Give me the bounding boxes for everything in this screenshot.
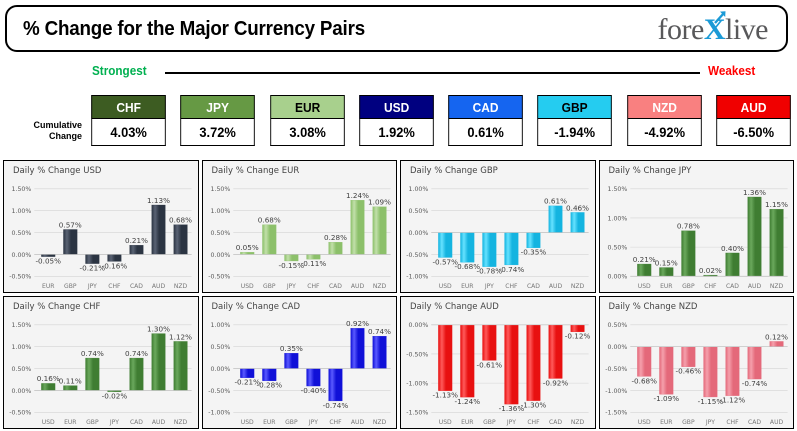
bar bbox=[527, 325, 541, 401]
bar-value-label: 0.92% bbox=[346, 319, 369, 328]
x-axis-tick-label: GBP bbox=[285, 419, 298, 426]
bar bbox=[725, 347, 739, 396]
chart-panel-aud: Daily % Change AUD-1.50%-1.00%-0.50%0.00… bbox=[400, 296, 596, 429]
bar-value-label: -0.02% bbox=[102, 392, 128, 401]
bar bbox=[438, 325, 452, 391]
currency-rank-nzd: NZD-4.92% bbox=[624, 95, 705, 149]
currency-rank-gbp: GBP-1.94% bbox=[534, 95, 615, 149]
bar bbox=[306, 369, 320, 386]
bar bbox=[130, 245, 144, 254]
bar bbox=[174, 225, 188, 255]
currency-cumulative-value: 3.72% bbox=[181, 119, 256, 146]
bar-value-label: 0.68% bbox=[257, 215, 280, 224]
x-axis-tick-label: JPY bbox=[307, 419, 317, 426]
y-axis-tick-label: 0.50% bbox=[210, 230, 230, 237]
bar bbox=[86, 254, 100, 263]
logo-text-left: fore bbox=[658, 13, 704, 46]
x-axis-tick-label: CAD bbox=[725, 283, 738, 290]
header-bar: % Change for the Major Currency Pairs fo… bbox=[5, 5, 788, 52]
x-axis-tick-label: EUR bbox=[42, 283, 55, 290]
chart-title: Daily % Change EUR bbox=[212, 166, 300, 176]
chart-plot-area: -1.50%-1.00%-0.50%0.00%-1.13%USD-1.24%EU… bbox=[401, 315, 593, 428]
y-axis-tick-label: 0.00% bbox=[210, 366, 230, 373]
bar bbox=[659, 347, 673, 395]
x-axis-tick-label: CHF bbox=[527, 419, 540, 426]
bar-value-label: -0.05% bbox=[35, 256, 61, 265]
bar bbox=[63, 386, 77, 391]
bar-value-label: 1.13% bbox=[147, 196, 170, 205]
x-axis-tick-label: AUD bbox=[350, 283, 364, 290]
bar bbox=[174, 341, 188, 390]
bar bbox=[152, 334, 166, 391]
charts-grid: Daily % Change USD-0.50%0.00%0.50%1.00%1… bbox=[3, 160, 794, 429]
currency-cumulative-value: -4.92% bbox=[627, 119, 702, 146]
bar bbox=[372, 207, 386, 255]
bar-chart-svg: -1.00%-0.50%0.00%0.50%1.00%-0.57%USD-0.6… bbox=[401, 179, 593, 292]
bar bbox=[637, 347, 651, 377]
currency-code-badge: USD bbox=[359, 95, 434, 119]
y-axis-tick-label: 0.00% bbox=[409, 322, 429, 329]
strongest-label: Strongest bbox=[92, 63, 147, 78]
bar-value-label: 1.09% bbox=[368, 198, 391, 207]
chart-plot-area: -1.00%-0.50%0.00%0.50%1.00%-0.21%USD-0.2… bbox=[203, 315, 395, 428]
currency-rank-usd: USD1.92% bbox=[356, 95, 437, 149]
bar bbox=[483, 325, 497, 361]
x-axis-tick-label: CHF bbox=[505, 283, 518, 290]
bar-value-label: -0.11% bbox=[300, 259, 326, 268]
x-axis-tick-label: AUD bbox=[747, 283, 761, 290]
forexlive-logo: foreXlive bbox=[658, 11, 768, 49]
chart-panel-nzd: Daily % Change NZD-1.50%-1.00%-0.50%0.00… bbox=[599, 296, 795, 429]
bar-chart-svg: -0.50%0.00%0.50%1.00%1.50%0.05%USD0.68%G… bbox=[203, 179, 395, 292]
x-axis-tick-label: EUR bbox=[660, 419, 673, 426]
strength-scale-row: Strongest Weakest bbox=[0, 62, 797, 84]
currency-code-badge: AUD bbox=[716, 95, 791, 119]
y-axis-tick-label: 0.00% bbox=[12, 388, 32, 395]
x-axis-tick-label: CAD bbox=[130, 419, 143, 426]
chart-panel-usd: Daily % Change USD-0.50%0.00%0.50%1.00%1… bbox=[3, 160, 199, 293]
strength-scale-line bbox=[165, 72, 700, 74]
chart-title: Daily % Change AUD bbox=[410, 302, 499, 312]
bar bbox=[460, 325, 474, 397]
bar bbox=[703, 347, 717, 397]
currency-cumulative-value: -6.50% bbox=[716, 119, 791, 146]
y-axis-tick-label: 1.50% bbox=[12, 186, 32, 193]
x-axis-tick-label: CAD bbox=[328, 283, 341, 290]
y-axis-tick-label: 0.50% bbox=[210, 344, 230, 351]
x-axis-tick-label: NZD bbox=[571, 419, 585, 426]
currency-rank-aud: AUD-6.50% bbox=[713, 95, 794, 149]
x-axis-tick-label: AUD bbox=[350, 419, 364, 426]
cumulative-change-label: Cumulative Change bbox=[0, 120, 82, 142]
logo-x-arrow-icon: X bbox=[704, 11, 725, 49]
currency-rank-chf: CHF4.03% bbox=[88, 95, 169, 149]
x-axis-tick-label: GBP bbox=[86, 419, 99, 426]
y-axis-tick-label: 1.50% bbox=[12, 322, 32, 329]
y-axis-tick-label: 0.50% bbox=[12, 230, 32, 237]
bar-value-label: 0.05% bbox=[235, 243, 258, 252]
chart-title: Daily % Change NZD bbox=[609, 302, 698, 312]
bar-value-label: -1.09% bbox=[653, 394, 679, 403]
y-axis-tick-label: -1.50% bbox=[605, 410, 627, 417]
y-axis-tick-label: -1.00% bbox=[406, 274, 428, 281]
bar-value-label: -0.16% bbox=[102, 261, 128, 270]
bar-value-label: -0.28% bbox=[256, 381, 282, 390]
cumulative-label-line1: Cumulative bbox=[0, 120, 82, 131]
bar-value-label: -1.12% bbox=[719, 396, 745, 405]
bar-value-label: -0.61% bbox=[477, 360, 503, 369]
x-axis-tick-label: CHF bbox=[329, 419, 342, 426]
bar-value-label: 0.15% bbox=[654, 258, 677, 267]
x-axis-tick-label: CAD bbox=[130, 283, 143, 290]
bar bbox=[549, 325, 563, 379]
bar-value-label: 0.02% bbox=[698, 266, 721, 275]
bar bbox=[747, 347, 761, 379]
bar-value-label: 0.12% bbox=[765, 332, 788, 341]
arrow-up-right-icon bbox=[713, 9, 727, 25]
currency-cumulative-value: 1.92% bbox=[359, 119, 434, 146]
x-axis-tick-label: GBP bbox=[263, 283, 276, 290]
bar-chart-svg: 0.00%0.50%1.00%1.50%0.21%USD0.15%EUR0.78… bbox=[600, 179, 792, 292]
bar-chart-svg: -1.50%-1.00%-0.50%0.00%0.50%-0.68%USD-1.… bbox=[600, 315, 792, 428]
bar-value-label: 1.36% bbox=[743, 188, 766, 197]
bar-chart-svg: -1.00%-0.50%0.00%0.50%1.00%-0.21%USD-0.2… bbox=[203, 315, 395, 428]
chart-plot-area: -1.00%-0.50%0.00%0.50%1.00%-0.57%USD-0.6… bbox=[401, 179, 593, 292]
currency-code-badge: NZD bbox=[627, 95, 702, 119]
currency-rank-cad: CAD0.61% bbox=[445, 95, 526, 149]
x-axis-tick-label: JPY bbox=[87, 283, 97, 290]
bar-value-label: 0.61% bbox=[544, 197, 567, 206]
bar-value-label: -0.74% bbox=[322, 401, 348, 410]
chart-panel-chf: Daily % Change CHF-0.50%0.00%0.50%1.00%1… bbox=[3, 296, 199, 429]
x-axis-tick-label: NZD bbox=[174, 419, 188, 426]
x-axis-tick-label: CHF bbox=[704, 283, 717, 290]
currency-cumulative-value: 0.61% bbox=[448, 119, 523, 146]
bar bbox=[483, 233, 497, 267]
bar bbox=[637, 264, 651, 276]
y-axis-tick-label: -0.50% bbox=[406, 351, 428, 358]
x-axis-tick-label: CHF bbox=[307, 283, 320, 290]
chart-plot-area: 0.00%0.50%1.00%1.50%0.21%USD0.15%EUR0.78… bbox=[600, 179, 792, 292]
infographic-root: % Change for the Major Currency Pairs fo… bbox=[0, 0, 797, 431]
chart-title: Daily % Change CHF bbox=[13, 302, 100, 312]
y-axis-tick-label: -1.00% bbox=[406, 380, 428, 387]
bar bbox=[240, 369, 254, 378]
x-axis-tick-label: CHF bbox=[726, 419, 739, 426]
x-axis-tick-label: NZD bbox=[174, 283, 188, 290]
y-axis-tick-label: -1.00% bbox=[208, 410, 230, 417]
y-axis-tick-label: 1.50% bbox=[210, 186, 230, 193]
bar bbox=[41, 383, 55, 390]
bar-chart-svg: -1.50%-1.00%-0.50%0.00%-1.13%USD-1.24%EU… bbox=[401, 315, 593, 428]
y-axis-tick-label: 1.00% bbox=[607, 215, 627, 222]
y-axis-tick-label: 0.00% bbox=[409, 230, 429, 237]
x-axis-tick-label: NZD bbox=[372, 419, 386, 426]
bar-value-label: 1.30% bbox=[147, 324, 170, 333]
bar bbox=[549, 206, 563, 233]
bar bbox=[350, 328, 364, 368]
x-axis-tick-label: AUD bbox=[549, 283, 563, 290]
logo-text-right: live bbox=[725, 13, 768, 46]
bar-value-label: 0.35% bbox=[279, 344, 302, 353]
bar-value-label: -0.35% bbox=[521, 248, 547, 257]
bar-value-label: -0.46% bbox=[675, 367, 701, 376]
chart-plot-area: -0.50%0.00%0.50%1.00%1.50%-0.05%EUR0.57%… bbox=[4, 179, 196, 292]
y-axis-tick-label: 0.00% bbox=[210, 252, 230, 259]
x-axis-tick-label: USD bbox=[42, 419, 55, 426]
currency-code-badge: GBP bbox=[538, 95, 613, 119]
chart-title: Daily % Change JPY bbox=[609, 166, 692, 176]
chart-title: Daily % Change CAD bbox=[212, 302, 301, 312]
x-axis-tick-label: JPY bbox=[109, 419, 119, 426]
cumulative-label-line2: Change bbox=[0, 131, 82, 142]
x-axis-tick-label: USD bbox=[439, 419, 452, 426]
bar-value-label: -0.12% bbox=[565, 332, 591, 341]
x-axis-tick-label: CHF bbox=[108, 283, 121, 290]
y-axis-tick-label: 0.50% bbox=[409, 208, 429, 215]
x-axis-tick-label: USD bbox=[637, 419, 650, 426]
bar bbox=[262, 225, 276, 255]
bar-chart-svg: -0.50%0.00%0.50%1.00%1.50%0.16%USD0.11%E… bbox=[4, 315, 196, 428]
x-axis-tick-label: GBP bbox=[682, 419, 695, 426]
bar-value-label: 0.74% bbox=[368, 327, 391, 336]
bar bbox=[747, 197, 761, 276]
bar-value-label: -0.74% bbox=[741, 379, 767, 388]
y-axis-tick-label: -0.50% bbox=[208, 388, 230, 395]
bar bbox=[328, 242, 342, 254]
bar bbox=[63, 229, 77, 254]
bar-value-label: 0.68% bbox=[169, 215, 192, 224]
currency-cumulative-value: 4.03% bbox=[91, 119, 166, 146]
y-axis-tick-label: -0.50% bbox=[208, 274, 230, 281]
chart-panel-jpy: Daily % Change JPY0.00%0.50%1.00%1.50%0.… bbox=[599, 160, 795, 293]
x-axis-tick-label: EUR bbox=[263, 419, 276, 426]
y-axis-tick-label: -1.00% bbox=[605, 388, 627, 395]
bar-value-label: 0.78% bbox=[676, 222, 699, 231]
bar bbox=[769, 341, 783, 346]
x-axis-tick-label: CAD bbox=[527, 283, 540, 290]
y-axis-tick-label: 1.00% bbox=[210, 208, 230, 215]
bar bbox=[505, 325, 519, 404]
y-axis-tick-label: -0.50% bbox=[605, 366, 627, 373]
x-axis-tick-label: EUR bbox=[64, 419, 77, 426]
bar bbox=[130, 358, 144, 390]
currency-ranking-strip: CHF4.03%JPY3.72%EUR3.08%USD1.92%CAD0.61%… bbox=[88, 95, 794, 149]
x-axis-tick-label: GBP bbox=[64, 283, 77, 290]
x-axis-tick-label: CAD bbox=[549, 419, 562, 426]
bar bbox=[262, 369, 276, 381]
bar bbox=[328, 369, 342, 401]
x-axis-tick-label: AUD bbox=[769, 419, 783, 426]
bar bbox=[505, 233, 519, 265]
bar-value-label: -1.30% bbox=[521, 400, 547, 409]
bar bbox=[571, 212, 585, 232]
bar bbox=[769, 209, 783, 276]
x-axis-tick-label: USD bbox=[439, 283, 452, 290]
y-axis-tick-label: 0.50% bbox=[607, 244, 627, 251]
x-axis-tick-label: USD bbox=[637, 283, 650, 290]
y-axis-tick-label: 1.00% bbox=[12, 344, 32, 351]
x-axis-tick-label: NZD bbox=[769, 283, 783, 290]
x-axis-tick-label: AUD bbox=[152, 283, 166, 290]
bar bbox=[460, 233, 474, 263]
bar-value-label: 0.11% bbox=[59, 376, 82, 385]
bar bbox=[527, 233, 541, 248]
y-axis-tick-label: 1.00% bbox=[210, 322, 230, 329]
bar-value-label: -1.24% bbox=[455, 397, 481, 406]
x-axis-tick-label: JPY bbox=[285, 283, 295, 290]
currency-code-badge: CAD bbox=[448, 95, 523, 119]
bar-value-label: 0.57% bbox=[59, 220, 82, 229]
bar bbox=[350, 200, 364, 254]
bar-value-label: 0.21% bbox=[125, 236, 148, 245]
weakest-label: Weakest bbox=[708, 63, 755, 78]
chart-title: Daily % Change GBP bbox=[410, 166, 498, 176]
currency-code-badge: EUR bbox=[270, 95, 345, 119]
y-axis-tick-label: 0.00% bbox=[607, 344, 627, 351]
x-axis-tick-label: USD bbox=[240, 419, 253, 426]
bar-value-label: 1.24% bbox=[346, 191, 369, 200]
currency-code-badge: CHF bbox=[91, 95, 166, 119]
y-axis-tick-label: 0.50% bbox=[12, 366, 32, 373]
y-axis-tick-label: 0.00% bbox=[12, 252, 32, 259]
x-axis-tick-label: GBP bbox=[483, 419, 496, 426]
y-axis-tick-label: -0.50% bbox=[9, 410, 31, 417]
bar bbox=[681, 231, 695, 276]
x-axis-tick-label: AUD bbox=[152, 419, 166, 426]
x-axis-tick-label: GBP bbox=[682, 283, 695, 290]
chart-panel-eur: Daily % Change EUR-0.50%0.00%0.50%1.00%1… bbox=[202, 160, 398, 293]
bar bbox=[438, 233, 452, 258]
bar-value-label: 0.21% bbox=[632, 255, 655, 264]
y-axis-tick-label: 1.00% bbox=[12, 208, 32, 215]
bar-value-label: -0.40% bbox=[300, 386, 326, 395]
bar-value-label: -0.74% bbox=[499, 265, 525, 274]
chart-plot-area: -1.50%-1.00%-0.50%0.00%0.50%-0.68%USD-1.… bbox=[600, 315, 792, 428]
y-axis-tick-label: -0.50% bbox=[9, 274, 31, 281]
x-axis-tick-label: EUR bbox=[461, 283, 474, 290]
x-axis-tick-label: EUR bbox=[660, 283, 673, 290]
y-axis-tick-label: 1.50% bbox=[607, 186, 627, 193]
currency-rank-jpy: JPY3.72% bbox=[177, 95, 258, 149]
currency-rank-eur: EUR3.08% bbox=[267, 95, 348, 149]
currency-cumulative-value: 3.08% bbox=[270, 119, 345, 146]
bar bbox=[284, 353, 298, 368]
x-axis-tick-label: CAD bbox=[747, 419, 760, 426]
chart-plot-area: -0.50%0.00%0.50%1.00%1.50%0.16%USD0.11%E… bbox=[4, 315, 196, 428]
bar bbox=[152, 205, 166, 254]
bar-value-label: 1.12% bbox=[169, 332, 192, 341]
x-axis-tick-label: JPY bbox=[704, 419, 714, 426]
y-axis-tick-label: -0.50% bbox=[406, 252, 428, 259]
bar-value-label: 0.74% bbox=[125, 349, 148, 358]
chart-plot-area: -0.50%0.00%0.50%1.00%1.50%0.05%USD0.68%G… bbox=[203, 179, 395, 292]
chart-panel-gbp: Daily % Change GBP-1.00%-0.50%0.00%0.50%… bbox=[400, 160, 596, 293]
currency-code-badge: JPY bbox=[181, 95, 256, 119]
bar-value-label: 1.15% bbox=[765, 200, 788, 209]
page-title: % Change for the Major Currency Pairs bbox=[23, 18, 365, 41]
y-axis-tick-label: -1.50% bbox=[406, 410, 428, 417]
bar-value-label: -0.92% bbox=[543, 378, 569, 387]
bar bbox=[86, 358, 100, 390]
bar bbox=[681, 347, 695, 367]
y-axis-tick-label: 0.00% bbox=[607, 274, 627, 281]
bar-value-label: 0.46% bbox=[566, 203, 589, 212]
chart-title: Daily % Change USD bbox=[13, 166, 101, 176]
x-axis-tick-label: NZD bbox=[571, 283, 585, 290]
y-axis-tick-label: 1.00% bbox=[409, 186, 429, 193]
x-axis-tick-label: JPY bbox=[484, 283, 494, 290]
bar-value-label: 0.40% bbox=[720, 244, 743, 253]
bar-value-label: 0.16% bbox=[37, 374, 60, 383]
y-axis-tick-label: 0.50% bbox=[607, 322, 627, 329]
x-axis-tick-label: EUR bbox=[461, 419, 474, 426]
bar-value-label: 0.28% bbox=[323, 233, 346, 242]
bar bbox=[372, 336, 386, 368]
bar bbox=[725, 253, 739, 276]
bar-value-label: 0.74% bbox=[81, 349, 104, 358]
bar-chart-svg: -0.50%0.00%0.50%1.00%1.50%-0.05%EUR0.57%… bbox=[4, 179, 196, 292]
x-axis-tick-label: NZD bbox=[372, 283, 386, 290]
bar-value-label: -0.68% bbox=[631, 376, 657, 385]
x-axis-tick-label: JPY bbox=[506, 419, 516, 426]
currency-cumulative-value: -1.94% bbox=[538, 119, 613, 146]
chart-panel-cad: Daily % Change CAD-1.00%-0.50%0.00%0.50%… bbox=[202, 296, 398, 429]
x-axis-tick-label: USD bbox=[240, 283, 253, 290]
bar bbox=[659, 268, 673, 277]
